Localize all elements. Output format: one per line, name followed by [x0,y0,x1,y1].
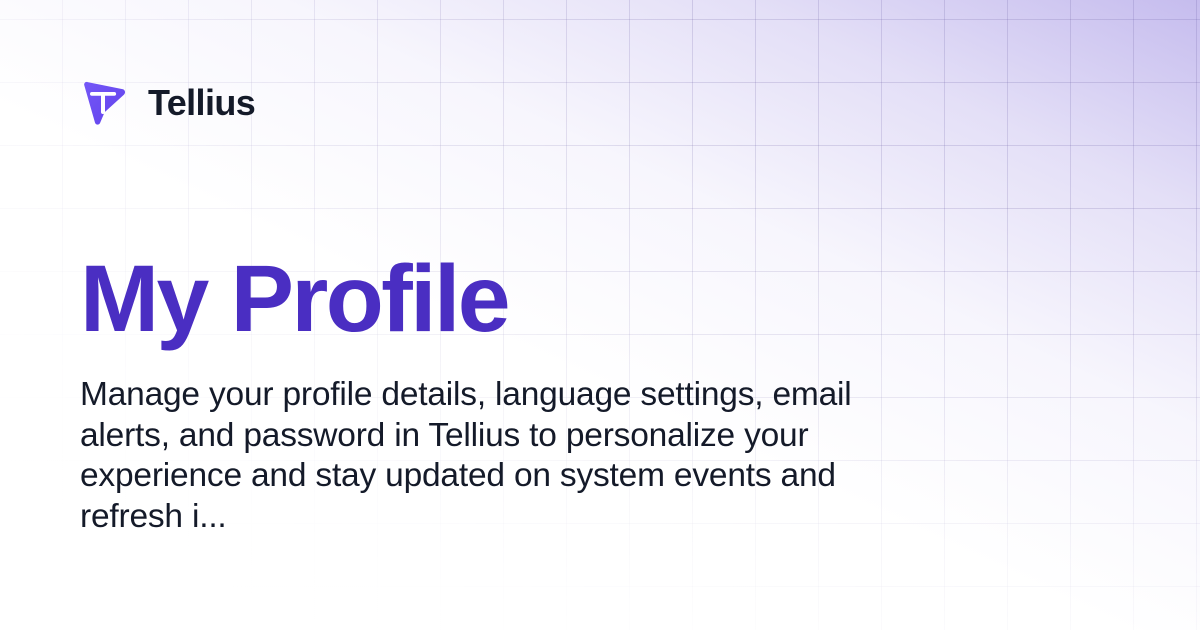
hero-text-block: My Profile Manage your profile details, … [80,252,1120,538]
card-content: Tellius My Profile Manage your profile d… [0,0,1200,630]
brand-lockup: Tellius [80,78,255,128]
page-description: Manage your profile details, language se… [80,375,870,538]
tellius-logo-icon [80,78,130,128]
og-card-canvas: Tellius My Profile Manage your profile d… [0,0,1200,630]
brand-name: Tellius [148,85,255,121]
page-title: My Profile [80,252,1120,347]
